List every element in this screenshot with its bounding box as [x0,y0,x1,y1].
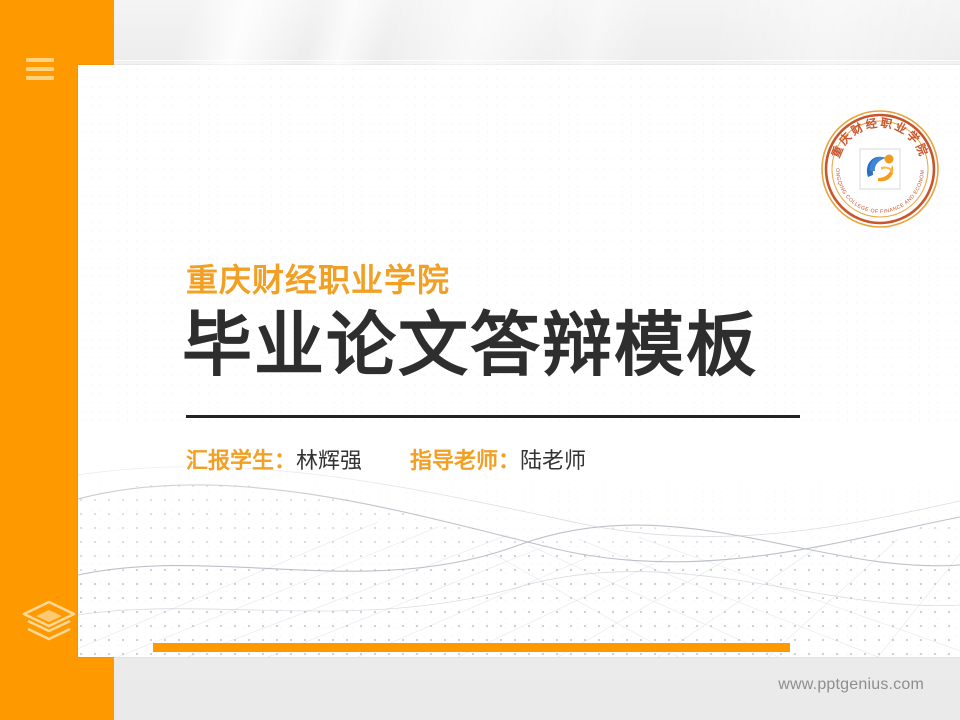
byline: 汇报学生：林辉强指导老师：陆老师 [186,443,586,475]
school-name-eyebrow: 重庆财经职业学院 [186,255,450,301]
slide-viewer: 重庆财经职业学院 CHONGQING COLLEGE OF FINANCE AN… [0,0,960,720]
advisor-name: 陆老师 [520,448,586,473]
advisor-label: 指导老师： [410,448,520,473]
presentation-slide[interactable]: 重庆财经职业学院 CHONGQING COLLEGE OF FINANCE AN… [78,65,960,657]
hamburger-bar-1 [26,58,54,62]
student-name: 林辉强 [296,448,362,473]
footer-website-url[interactable]: www.pptgenius.com [778,676,924,694]
hamburger-bar-2 [26,67,54,71]
orange-accent-bar [153,643,790,652]
school-seal-logo: 重庆财经职业学院 CHONGQING COLLEGE OF FINANCE AN… [818,107,942,231]
slide-headline: 毕业论文答辩模板 [182,310,758,380]
headline-underline-rule [186,415,800,418]
hamburger-bar-3 [26,76,54,80]
student-label: 汇报学生： [186,448,296,473]
background-divider [0,60,960,61]
hamburger-menu-icon[interactable] [26,58,54,80]
layers-stack-icon[interactable] [20,598,78,646]
